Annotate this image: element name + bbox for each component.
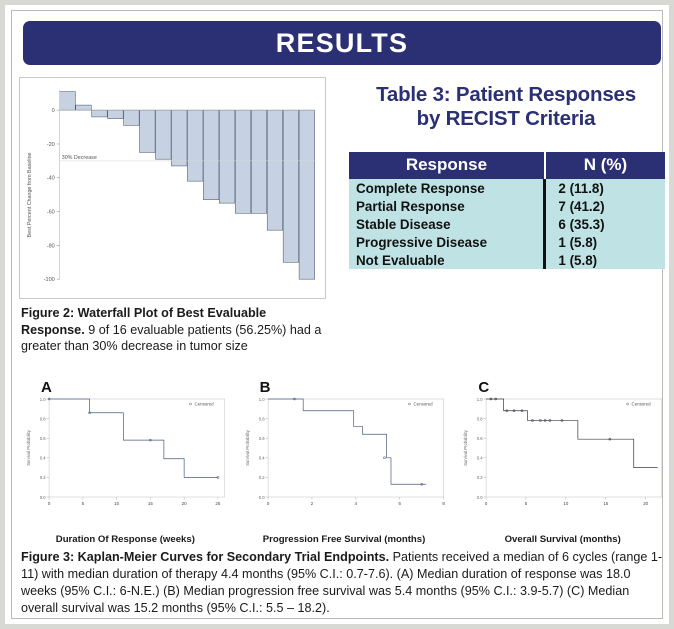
waterfall-y-axis-label: Best Percent Change from Baseline (27, 152, 33, 237)
kaplan-meier-panel-row: A 0.00.20.40.60.81.00510152025Survival P… (19, 381, 669, 543)
km-y-tick: 0.6 (40, 436, 47, 441)
km-y-tick: 0.0 (477, 495, 484, 500)
km-y-tick: 0.2 (477, 475, 484, 480)
km-legend-label: Censored (632, 402, 652, 407)
km-y-tick: 0.4 (40, 456, 47, 461)
table-header-row: Response N (%) (349, 152, 665, 179)
km-panel-b-xlabel: Progression Free Survival (months) (238, 534, 451, 545)
km-x-tick: 5 (82, 501, 85, 506)
waterfall-y-tick: -80 (47, 243, 55, 249)
cell-response: Not Evaluable (349, 251, 545, 269)
waterfall-bar (203, 110, 219, 200)
km-panel-a: A 0.00.20.40.60.81.00510152025Survival P… (19, 381, 232, 543)
cell-n-percent: 6 (35.3) (545, 215, 665, 233)
km-x-tick: 0 (485, 501, 488, 506)
km-plot-frame (49, 399, 225, 497)
km-plot-frame (268, 399, 444, 497)
waterfall-bar (267, 110, 283, 230)
km-plot-frame (486, 399, 662, 497)
km-y-tick: 0.0 (40, 495, 47, 500)
km-legend-marker-icon (190, 403, 192, 405)
km-censored-marker (383, 457, 385, 459)
waterfall-bar (60, 92, 76, 111)
waterfall-bar (92, 110, 108, 117)
cell-response: Progressive Disease (349, 233, 545, 251)
waterfall-bar (171, 110, 187, 166)
figure3-caption-bold: Figure 3: Kaplan-Meier Curves for Second… (21, 550, 389, 564)
cell-n-percent: 2 (11.8) (545, 179, 665, 197)
km-panel-a-svg: 0.00.20.40.60.81.00510152025Survival Pro… (19, 389, 232, 521)
waterfall-threshold-annotation: 30% Decrease (62, 155, 97, 161)
km-y-tick: 1.0 (40, 397, 47, 402)
km-x-tick: 8 (442, 501, 445, 506)
cell-n-percent: 1 (5.8) (545, 233, 665, 251)
cell-response: Partial Response (349, 197, 545, 215)
table-title-line1: Table 3: Patient Responses (337, 83, 674, 107)
km-x-tick: 15 (604, 501, 609, 506)
km-y-tick: 0.2 (40, 475, 47, 480)
km-survival-curve (486, 399, 658, 468)
km-y-tick: 0.8 (40, 416, 47, 421)
table-row: Progressive Disease1 (5.8) (349, 233, 665, 251)
km-y-axis-label: Survival Probability (26, 429, 31, 465)
waterfall-plot-figure: 0-20-40-60-80-10030% Decrease Best Perce… (19, 77, 326, 299)
waterfall-bar (76, 105, 92, 110)
km-x-tick: 0 (267, 501, 270, 506)
km-y-tick: 0.4 (477, 456, 484, 461)
waterfall-y-tick: -40 (47, 176, 55, 182)
banner-title: RESULTS (276, 28, 408, 59)
km-x-tick: 0 (48, 501, 51, 506)
waterfall-bar (251, 110, 267, 213)
table-title-line2: by RECIST Criteria (337, 107, 674, 131)
km-x-tick: 5 (525, 501, 528, 506)
table-row: Not Evaluable1 (5.8) (349, 251, 665, 269)
km-y-tick: 0.6 (477, 436, 484, 441)
km-panel-c-xlabel: Overall Survival (months) (456, 534, 669, 545)
poster-root: RESULTS 0-20-40-60-80-10030% Decrease Be… (0, 0, 674, 629)
cell-n-percent: 7 (41.2) (545, 197, 665, 215)
km-x-tick: 10 (564, 501, 569, 506)
km-y-tick: 0.2 (258, 475, 265, 480)
km-y-axis-label: Survival Probability (245, 429, 250, 465)
waterfall-bar (124, 110, 140, 125)
table-row: Complete Response2 (11.8) (349, 179, 665, 197)
km-x-tick: 20 (182, 501, 187, 506)
km-x-tick: 25 (215, 501, 220, 506)
waterfall-y-tick: 0 (52, 108, 55, 114)
km-legend-label: Censored (413, 402, 433, 407)
table-row: Partial Response7 (41.2) (349, 197, 665, 215)
column-header-n-percent: N (%) (545, 152, 665, 179)
waterfall-plot-svg: 0-20-40-60-80-10030% Decrease Best Perce… (20, 78, 325, 298)
waterfall-y-tick: -60 (47, 210, 55, 216)
waterfall-bar (140, 110, 156, 152)
cell-n-percent: 1 (5.8) (545, 251, 665, 269)
km-x-tick: 10 (114, 501, 119, 506)
km-legend-marker-icon (627, 403, 629, 405)
km-panel-b: B 0.00.20.40.60.81.002468Survival Probab… (238, 381, 451, 543)
km-y-tick: 1.0 (477, 397, 484, 402)
waterfall-bar (299, 110, 315, 279)
figure2-caption: Figure 2: Waterfall Plot of Best Evaluab… (21, 305, 333, 355)
km-y-tick: 0.0 (258, 495, 265, 500)
km-x-tick: 20 (644, 501, 649, 506)
waterfall-bar (187, 110, 203, 181)
waterfall-bar (283, 110, 299, 262)
km-x-tick: 6 (398, 501, 401, 506)
waterfall-bar (155, 110, 171, 159)
km-y-axis-label: Survival Probability (463, 429, 468, 465)
waterfall-bar (108, 110, 124, 118)
km-survival-curve (49, 399, 218, 477)
km-y-tick: 0.8 (477, 416, 484, 421)
waterfall-bar (235, 110, 251, 213)
km-x-tick: 4 (354, 501, 357, 506)
column-header-response: Response (349, 152, 545, 179)
km-survival-curve (268, 399, 426, 484)
waterfall-y-tick: -20 (47, 142, 55, 148)
km-legend-label: Censored (195, 402, 215, 407)
km-legend-marker-icon (408, 403, 410, 405)
km-x-tick: 15 (148, 501, 153, 506)
table-row: Stable Disease6 (35.3) (349, 215, 665, 233)
patient-response-table: Response N (%) Complete Response2 (11.8)… (349, 152, 665, 269)
km-x-tick: 2 (310, 501, 313, 506)
km-y-tick: 0.4 (258, 456, 265, 461)
km-panel-c-svg: 0.00.20.40.60.81.005101520Survival Proba… (456, 389, 669, 521)
table-title: Table 3: Patient Responses by RECIST Cri… (337, 83, 674, 131)
km-y-tick: 1.0 (258, 397, 265, 402)
km-panel-a-xlabel: Duration Of Response (weeks) (19, 534, 232, 545)
cell-response: Stable Disease (349, 215, 545, 233)
km-panel-c: C 0.00.20.40.60.81.005101520Survival Pro… (456, 381, 669, 543)
cell-response: Complete Response (349, 179, 545, 197)
km-y-tick: 0.8 (258, 416, 265, 421)
waterfall-y-tick: -100 (44, 277, 55, 283)
km-y-tick: 0.6 (258, 436, 265, 441)
figure3-caption: Figure 3: Kaplan-Meier Curves for Second… (21, 549, 665, 617)
results-banner: RESULTS (23, 21, 661, 65)
waterfall-bar (219, 110, 235, 203)
km-panel-b-svg: 0.00.20.40.60.81.002468Survival Probabil… (238, 389, 451, 521)
